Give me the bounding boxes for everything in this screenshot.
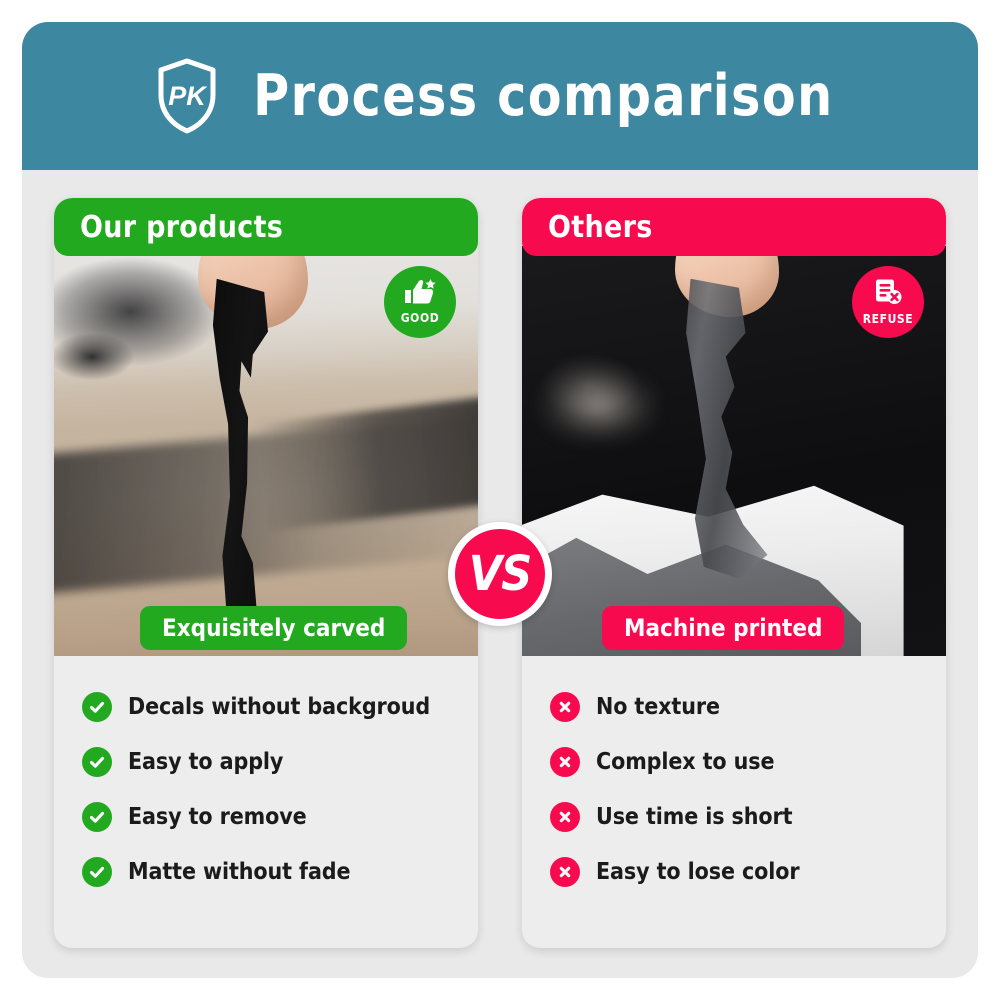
banner-label-others: Others: [548, 210, 653, 245]
page-header: PK Process comparison: [22, 22, 978, 170]
infographic-page: PK Process comparison Our products: [0, 0, 1000, 1000]
photo-caption-label-others: Machine printed: [624, 614, 822, 642]
check-icon: [82, 857, 112, 887]
column-our-products: Our products GOOD: [54, 198, 478, 948]
svg-text:PK: PK: [168, 81, 208, 111]
feature-list-others: No texture Complex to use: [522, 656, 946, 948]
column-banner-ours: Our products: [54, 198, 478, 256]
feature-list-ours: Decals without backgroud Easy to apply: [54, 656, 478, 948]
feature-label: Easy to apply: [128, 749, 283, 775]
list-item: Decals without backgroud: [82, 692, 478, 722]
quality-badge-refuse: REFUSE: [852, 266, 924, 338]
vs-badge-label: VS: [469, 546, 532, 602]
check-icon: [82, 802, 112, 832]
vs-badge: VS: [448, 522, 552, 626]
feature-label: No texture: [596, 694, 720, 720]
feature-label: Use time is short: [596, 804, 792, 830]
cross-icon: [550, 857, 580, 887]
list-item: Complex to use: [550, 747, 946, 777]
list-item: Use time is short: [550, 802, 946, 832]
cross-icon: [550, 802, 580, 832]
quality-badge-label-refuse: REFUSE: [863, 312, 914, 326]
feature-label: Easy to lose color: [596, 859, 799, 885]
list-item: Matte without fade: [82, 857, 478, 887]
feature-label: Complex to use: [596, 749, 774, 775]
photo-caption-label-ours: Exquisitely carved: [162, 614, 385, 642]
cross-icon: [550, 692, 580, 722]
column-others: Others: [522, 198, 946, 948]
check-icon: [82, 692, 112, 722]
list-item: Easy to apply: [82, 747, 478, 777]
page-title: Process comparison: [253, 63, 834, 129]
shield-icon: PK: [155, 57, 219, 135]
product-photo-others: REFUSE Machine printed: [522, 246, 946, 656]
list-item: No texture: [550, 692, 946, 722]
product-photo-ours: GOOD Exquisitely carved: [54, 246, 478, 656]
comparison-panel: PK Process comparison Our products: [22, 22, 978, 978]
document-x-icon: [873, 278, 903, 311]
feature-label: Decals without backgroud: [128, 694, 430, 720]
quality-badge-label-good: GOOD: [401, 311, 440, 325]
list-item: Easy to lose color: [550, 857, 946, 887]
cross-icon: [550, 747, 580, 777]
check-icon: [82, 747, 112, 777]
list-item: Easy to remove: [82, 802, 478, 832]
photo-caption-ours: Exquisitely carved: [140, 606, 407, 650]
column-banner-others: Others: [522, 198, 946, 256]
photo-caption-others: Machine printed: [602, 606, 844, 650]
banner-label-ours: Our products: [80, 210, 283, 245]
feature-label: Matte without fade: [128, 859, 350, 885]
feature-label: Easy to remove: [128, 804, 307, 830]
quality-badge-good: GOOD: [384, 266, 456, 338]
thumbs-up-star-icon: [403, 279, 437, 310]
decal-graphic-ours: [194, 279, 289, 609]
